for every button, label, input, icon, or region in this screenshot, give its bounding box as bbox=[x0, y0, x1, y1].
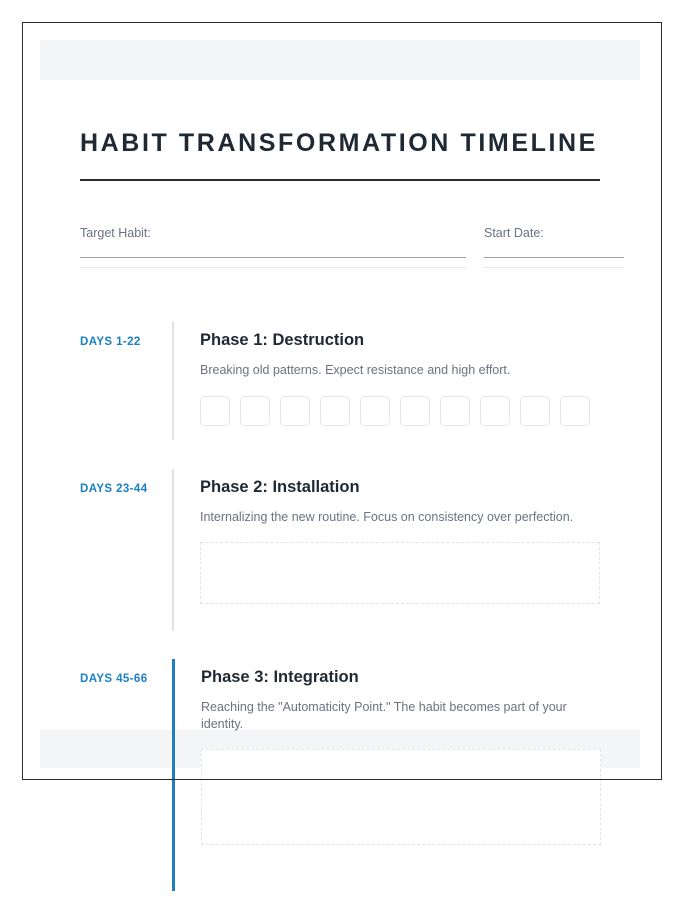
page-border-frame bbox=[22, 22, 662, 780]
screenshot-canvas: HABIT TRANSFORMATION TIMELINE Target Hab… bbox=[0, 0, 700, 900]
